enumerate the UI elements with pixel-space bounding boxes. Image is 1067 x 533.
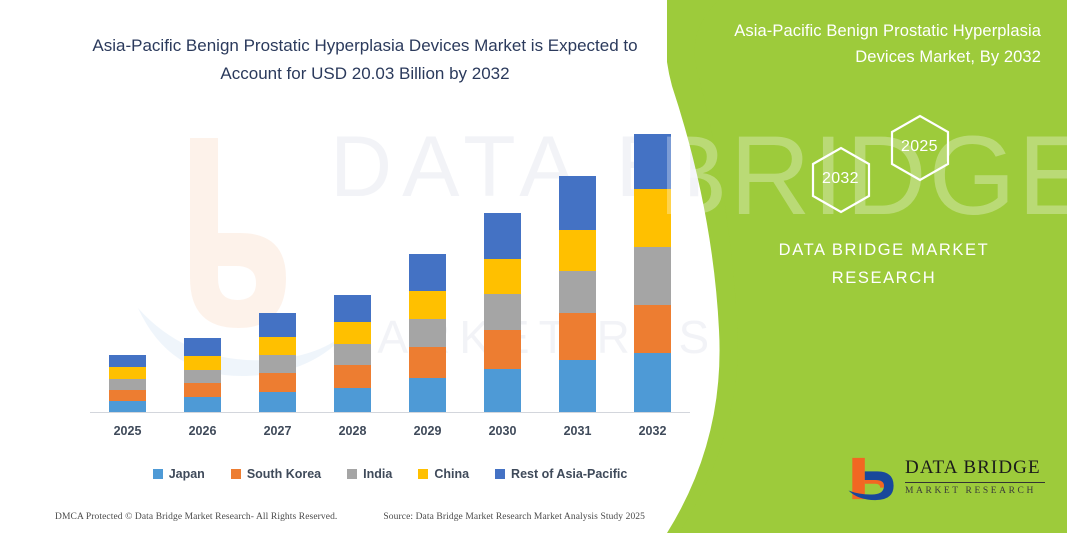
legend-label: India	[363, 467, 392, 481]
hexagon-2025-label: 2025	[901, 138, 938, 156]
legend-item-rest-of-asia-pacific[interactable]: Rest of Asia-Pacific	[495, 467, 627, 481]
bar-segment-china	[559, 230, 596, 271]
bar-segment-china	[259, 337, 296, 355]
legend-item-japan[interactable]: Japan	[153, 467, 205, 481]
bar-segment-south-korea	[184, 383, 221, 397]
legend-swatch-icon	[495, 469, 505, 479]
bar-segment-china	[484, 259, 521, 294]
bar-segment-china	[109, 367, 146, 379]
legend-swatch-icon	[347, 469, 357, 479]
hexagon-group: 2032 2025	[667, 108, 1067, 228]
hexagon-2032-label: 2032	[822, 170, 859, 188]
bar-segment-south-korea	[259, 373, 296, 392]
bar-segment-china	[634, 189, 671, 247]
bar-segment-rest-of-asia-pacific	[184, 338, 221, 356]
bar-segment-south-korea	[334, 365, 371, 388]
bar-segment-india	[184, 370, 221, 383]
legend-item-china[interactable]: China	[418, 467, 469, 481]
bar-column-2029	[393, 254, 463, 412]
bar-segment-india	[259, 355, 296, 373]
chart-x-axis	[90, 412, 690, 413]
chart-x-tick-labels: 20252026202720282029203020312032	[90, 424, 690, 444]
data-bridge-logo-icon	[845, 455, 899, 503]
bar-segment-china	[334, 322, 371, 344]
bar-segment-india	[484, 294, 521, 330]
bar-segment-south-korea	[484, 330, 521, 369]
logo-divider	[905, 482, 1045, 483]
bar-segment-rest-of-asia-pacific	[559, 176, 596, 230]
bar-segment-china	[409, 291, 446, 319]
logo-wordmark: DATA BRIDGE MARKET RESEARCH	[905, 457, 1045, 496]
legend-swatch-icon	[153, 469, 163, 479]
bar-segment-south-korea	[634, 305, 671, 353]
company-logo: DATA BRIDGE MARKET RESEARCH	[845, 451, 1045, 507]
legend-label: China	[434, 467, 469, 481]
bar-segment-rest-of-asia-pacific	[634, 134, 671, 189]
bar-segment-india	[559, 271, 596, 313]
page-title: Asia-Pacific Benign Prostatic Hyperplasi…	[60, 32, 670, 88]
footer: DMCA Protected © Data Bridge Market Rese…	[0, 506, 700, 528]
bar-segment-rest-of-asia-pacific	[409, 254, 446, 291]
stacked-bar	[559, 176, 596, 412]
bar-segment-japan	[184, 397, 221, 412]
legend-label: Rest of Asia-Pacific	[511, 467, 627, 481]
stacked-bar	[634, 134, 671, 412]
stacked-bar	[184, 338, 221, 412]
bar-segment-japan	[634, 353, 671, 412]
bar-segment-india	[334, 344, 371, 365]
x-tick-label-2030: 2030	[468, 424, 538, 444]
bar-segment-rest-of-asia-pacific	[484, 213, 521, 259]
infographic-canvas: DATA BRIDGE MARKET RESEARCH Asia-Pacific…	[0, 0, 1067, 533]
hexagons-icon	[667, 108, 1067, 228]
bar-segment-india	[409, 319, 446, 347]
chart-legend: JapanSouth KoreaIndiaChinaRest of Asia-P…	[90, 463, 690, 485]
stacked-bar	[334, 295, 371, 412]
bar-segment-rest-of-asia-pacific	[109, 355, 146, 367]
x-tick-label-2029: 2029	[393, 424, 463, 444]
x-tick-label-2026: 2026	[168, 424, 238, 444]
stacked-bar	[484, 213, 521, 412]
bar-column-2028	[318, 295, 388, 412]
legend-swatch-icon	[418, 469, 428, 479]
footer-source: Source: Data Bridge Market Research Mark…	[383, 512, 645, 522]
legend-item-south-korea[interactable]: South Korea	[231, 467, 321, 481]
bar-segment-japan	[484, 369, 521, 412]
brand-name: DATA BRIDGE MARKET RESEARCH	[727, 236, 1041, 292]
bar-segment-india	[634, 247, 671, 305]
bar-column-2027	[243, 313, 313, 412]
stacked-bar-chart	[90, 110, 690, 412]
bar-segment-japan	[259, 392, 296, 412]
legend-label: South Korea	[247, 467, 321, 481]
stacked-bar	[259, 313, 296, 412]
bar-segment-china	[184, 356, 221, 370]
bar-segment-rest-of-asia-pacific	[334, 295, 371, 322]
x-tick-label-2025: 2025	[93, 424, 163, 444]
legend-swatch-icon	[231, 469, 241, 479]
bar-segment-japan	[334, 388, 371, 412]
legend-label: Japan	[169, 467, 205, 481]
brand-name-line2: RESEARCH	[727, 264, 1041, 292]
bar-segment-south-korea	[409, 347, 446, 378]
stacked-bar	[109, 355, 146, 412]
bar-column-2030	[468, 213, 538, 412]
stacked-bar	[409, 254, 446, 412]
bar-segment-south-korea	[559, 313, 596, 360]
bar-segment-india	[109, 379, 146, 390]
logo-name-top: DATA BRIDGE	[905, 457, 1045, 479]
bar-segment-south-korea	[109, 390, 146, 401]
bar-segment-japan	[109, 401, 146, 412]
x-tick-label-2028: 2028	[318, 424, 388, 444]
logo-name-bottom: MARKET RESEARCH	[905, 486, 1045, 496]
bar-segment-japan	[409, 378, 446, 412]
brand-name-line1: DATA BRIDGE MARKET	[727, 236, 1041, 264]
panel-title: Asia-Pacific Benign Prostatic Hyperplasi…	[725, 18, 1041, 70]
bar-segment-rest-of-asia-pacific	[259, 313, 296, 337]
x-tick-label-2027: 2027	[243, 424, 313, 444]
bar-segment-japan	[559, 360, 596, 412]
x-tick-label-2031: 2031	[543, 424, 613, 444]
bar-column-2026	[168, 338, 238, 412]
legend-item-india[interactable]: India	[347, 467, 392, 481]
bar-column-2025	[93, 355, 163, 412]
footer-copyright: DMCA Protected © Data Bridge Market Rese…	[55, 512, 337, 522]
bar-column-2031	[543, 176, 613, 412]
